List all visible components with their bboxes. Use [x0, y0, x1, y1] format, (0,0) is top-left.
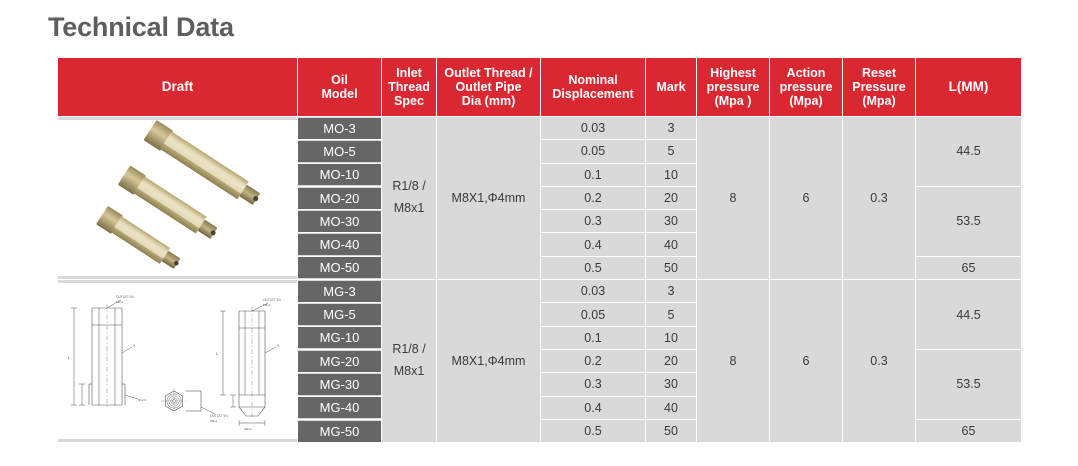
column-header-inlet-thread-spec: InletThreadSpec — [382, 58, 436, 116]
oil-model-cell: MG-3 — [298, 280, 381, 302]
oil-model-cell: MO-50 — [298, 257, 381, 279]
table-header: Draft OilModel InletThreadSpec Outlet Th… — [58, 58, 1021, 116]
oil-model-badge: MO-50 — [298, 257, 381, 278]
svg-text:L: L — [216, 351, 219, 356]
oil-model-cell: MO-3 — [298, 117, 381, 139]
oil-model-cell: MG-20 — [298, 350, 381, 372]
outlet-thread-cell: M8X1,Φ4mm — [437, 117, 540, 279]
table-row: MO-3R1/8 /M8x1M8X1,Φ4mm0.033860.344.5 — [58, 117, 1021, 139]
length-mm-cell: 53.5 — [916, 187, 1021, 256]
oil-model-badge: MG-40 — [298, 397, 381, 418]
outlet-thread-cell: M8X1,Φ4mm — [437, 280, 540, 442]
action-pressure-cell: 6 — [770, 280, 842, 442]
nominal-displacement-cell: 0.1 — [541, 327, 645, 349]
table-body: MO-3R1/8 /M8x1M8X1,Φ4mm0.033860.344.5MO-… — [58, 117, 1021, 442]
nominal-displacement-cell: 0.4 — [541, 233, 645, 255]
highest-pressure-cell: 8 — [697, 280, 769, 442]
page-title: Technical Data — [48, 12, 234, 43]
header-row: Draft OilModel InletThreadSpec Outlet Th… — [58, 58, 1021, 116]
length-mm-cell: 65 — [916, 420, 1021, 442]
oil-model-cell: MO-40 — [298, 233, 381, 255]
length-mm-cell: 44.5 — [916, 117, 1021, 186]
product-photo — [58, 120, 297, 276]
nominal-displacement-cell: 0.1 — [541, 164, 645, 186]
oil-model-badge: MO-40 — [298, 234, 381, 255]
oil-model-cell: MO-10 — [298, 164, 381, 186]
column-header-action-pressure: Actionpressure(Mpa) — [770, 58, 842, 116]
nominal-displacement-cell: 0.03 — [541, 117, 645, 139]
nominal-displacement-cell: 0.5 — [541, 257, 645, 279]
nominal-displacement-cell: 0.05 — [541, 140, 645, 162]
mark-cell: 5 — [646, 303, 696, 325]
highest-pressure-cell: 8 — [697, 117, 769, 279]
nominal-displacement-cell: 0.2 — [541, 187, 645, 209]
mark-cell: 3 — [646, 117, 696, 139]
mark-cell: 20 — [646, 350, 696, 372]
oil-model-badge: MO-20 — [298, 188, 381, 209]
oil-model-badge: MG-5 — [298, 304, 381, 325]
oil-model-badge: MO-3 — [298, 118, 381, 139]
oil-model-badge: MO-5 — [298, 141, 381, 162]
length-mm-cell: 44.5 — [916, 280, 1021, 349]
column-header-draft: Draft — [58, 58, 297, 116]
column-header-reset-pressure: ResetPressure(Mpa) — [843, 58, 915, 116]
mark-cell: 40 — [646, 397, 696, 419]
svg-text:OUTLET Φ4: OUTLET Φ4 — [263, 298, 281, 302]
oil-model-badge: MG-10 — [298, 327, 381, 348]
mark-cell: 10 — [646, 327, 696, 349]
draft-cell-mo-group — [58, 117, 297, 279]
svg-text:OUTLET Φ4: OUTLET Φ4 — [116, 295, 134, 299]
oil-model-badge: MG-20 — [298, 351, 381, 372]
nominal-displacement-cell: 0.4 — [541, 397, 645, 419]
length-mm-cell: 65 — [916, 257, 1021, 279]
column-header-mark: Mark — [646, 58, 696, 116]
nominal-displacement-cell: 0.2 — [541, 350, 645, 372]
mark-cell: 50 — [646, 420, 696, 442]
reset-pressure-cell: 0.3 — [843, 280, 915, 442]
oil-model-cell: MG-40 — [298, 397, 381, 419]
draft-cell-mg-group: LOUTLET Φ4M8x1SΦ12.9OUTLET Φ4M8x1LM8x1OU… — [58, 280, 297, 442]
mark-cell: 40 — [646, 233, 696, 255]
nominal-displacement-cell: 0.3 — [541, 373, 645, 395]
oil-model-cell: MG-30 — [298, 373, 381, 395]
length-mm-cell: 53.5 — [916, 350, 1021, 419]
mark-cell: 30 — [646, 210, 696, 232]
oil-model-badge: MO-30 — [298, 211, 381, 232]
cad-schematic: LOUTLET Φ4M8x1SΦ12.9OUTLET Φ4M8x1LM8x1OU… — [58, 283, 297, 439]
svg-text:OUTLET Φ4: OUTLET Φ4 — [210, 414, 228, 418]
inlet-thread-spec-cell: R1/8 /M8x1 — [382, 280, 436, 442]
oil-model-cell: MG-50 — [298, 420, 381, 442]
mark-cell: 50 — [646, 257, 696, 279]
svg-text:L: L — [68, 355, 71, 360]
column-header-highest-pressure: Highestpressure(Mpa ) — [697, 58, 769, 116]
column-header-oil-model: OilModel — [298, 58, 381, 116]
technical-data-table: Draft OilModel InletThreadSpec Outlet Th… — [57, 57, 1022, 443]
svg-text:Φ12.9: Φ12.9 — [138, 398, 147, 402]
oil-model-cell: MO-5 — [298, 140, 381, 162]
oil-model-cell: MO-20 — [298, 187, 381, 209]
nominal-displacement-cell: 0.05 — [541, 303, 645, 325]
svg-text:S: S — [277, 344, 280, 348]
oil-model-badge: MG-30 — [298, 374, 381, 395]
mark-cell: 3 — [646, 280, 696, 302]
oil-model-cell: MO-30 — [298, 210, 381, 232]
fittings-illustration — [58, 120, 297, 276]
svg-text:M8x1: M8x1 — [244, 427, 252, 431]
svg-text:M8x1: M8x1 — [116, 300, 124, 304]
nominal-displacement-cell: 0.03 — [541, 280, 645, 302]
mark-cell: 20 — [646, 187, 696, 209]
column-header-length-mm: L(MM) — [916, 58, 1021, 116]
oil-model-badge: MG-3 — [298, 281, 381, 302]
technical-data-page: Technical Data Draft OilModel InletThrea… — [0, 0, 1078, 466]
oil-model-badge: MG-50 — [298, 421, 381, 442]
action-pressure-cell: 6 — [770, 117, 842, 279]
svg-text:M8x1: M8x1 — [210, 419, 218, 423]
svg-text:M8x1: M8x1 — [263, 303, 271, 307]
oil-model-cell: MG-5 — [298, 303, 381, 325]
oil-model-badge: MO-10 — [298, 164, 381, 185]
nominal-displacement-cell: 0.5 — [541, 420, 645, 442]
mark-cell: 30 — [646, 373, 696, 395]
column-header-outlet-thread: Outlet Thread /Outlet PipeDia (mm) — [437, 58, 540, 116]
column-header-nominal-displacement: NominalDisplacement — [541, 58, 645, 116]
oil-model-cell: MG-10 — [298, 327, 381, 349]
mark-cell: 5 — [646, 140, 696, 162]
inlet-thread-spec-cell: R1/8 /M8x1 — [382, 117, 436, 279]
svg-text:S: S — [133, 344, 136, 348]
cad-drawing: LOUTLET Φ4M8x1SΦ12.9OUTLET Φ4M8x1LM8x1OU… — [58, 283, 297, 439]
nominal-displacement-cell: 0.3 — [541, 210, 645, 232]
mark-cell: 10 — [646, 164, 696, 186]
reset-pressure-cell: 0.3 — [843, 117, 915, 279]
table-row: LOUTLET Φ4M8x1SΦ12.9OUTLET Φ4M8x1LM8x1OU… — [58, 280, 1021, 302]
